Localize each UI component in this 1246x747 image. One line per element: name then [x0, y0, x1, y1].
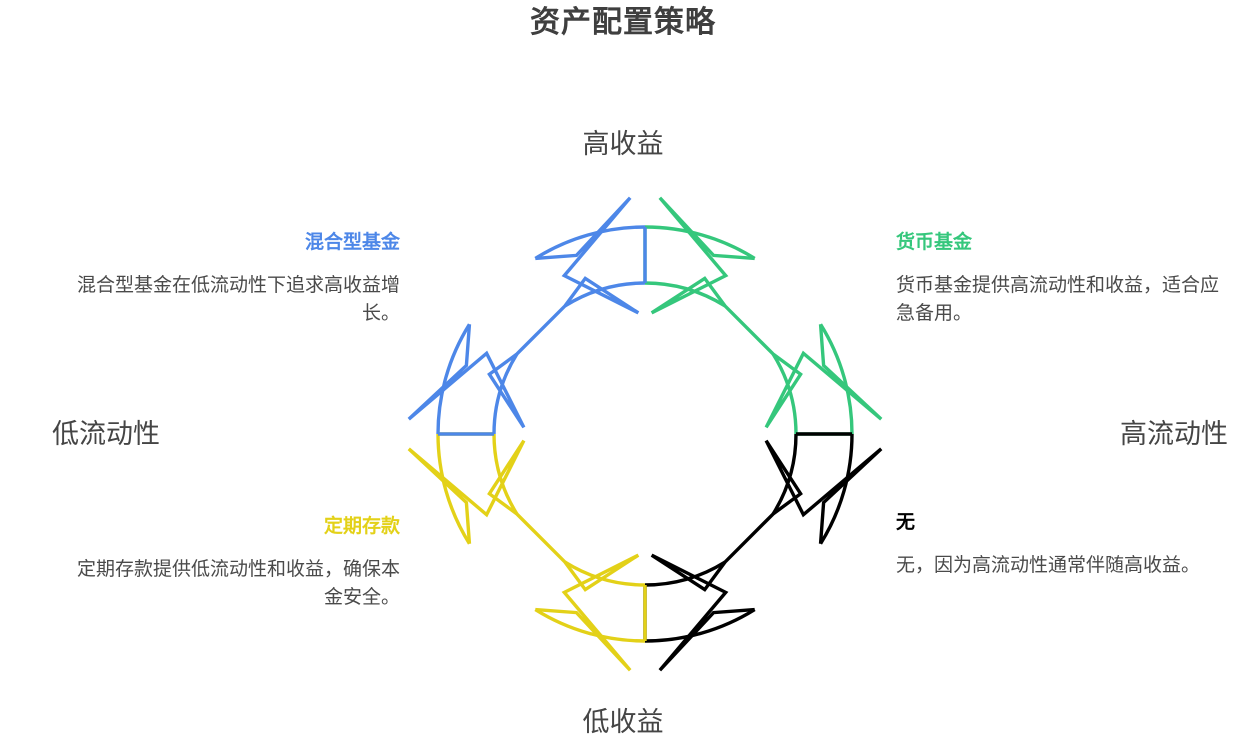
- quadrant-bottom-left-body: 定期存款提供低流动性和收益，确保本金安全。: [60, 556, 400, 612]
- ring-segment: [565, 283, 645, 306]
- quadrant-bottom-right-heading: 无: [896, 512, 1236, 534]
- ring-segment: [409, 441, 639, 671]
- ring-segment: [409, 198, 639, 428]
- ring-segment: [652, 198, 882, 428]
- quadrant-top-right-body: 货币基金提供高流动性和收益，适合应急备用。: [896, 272, 1236, 328]
- quadrant-bottom-right: 无 无，因为高流动性通常伴随高收益。: [896, 512, 1236, 580]
- quadrant-bottom-right-body: 无，因为高流动性通常伴随高收益。: [896, 552, 1236, 580]
- ring-segment: [645, 562, 725, 585]
- quadrant-bottom-left: 定期存款 定期存款提供低流动性和收益，确保本金安全。: [60, 516, 400, 612]
- quadrant-top-left: 混合型基金 混合型基金在低流动性下追求高收益增长。: [60, 232, 400, 328]
- ring-segment: [645, 227, 755, 258]
- ring-segment: [494, 434, 517, 514]
- ring-segment: [438, 324, 469, 434]
- axis-label-top: 高收益: [0, 122, 1246, 161]
- quadrant-top-left-heading: 混合型基金: [60, 232, 400, 254]
- ring-segment: [652, 441, 882, 671]
- ring-segment: [494, 354, 517, 434]
- ring-segment: [535, 227, 645, 258]
- axis-label-right: 高流动性: [1120, 412, 1228, 451]
- ring-segment: [565, 562, 645, 585]
- page-title: 资产配置策略: [0, 0, 1246, 46]
- ring-segment: [773, 354, 796, 434]
- axis-label-left: 低流动性: [52, 412, 160, 451]
- ring-segment: [821, 324, 852, 434]
- ring-segment: [645, 610, 755, 641]
- ring-segment: [773, 434, 796, 514]
- axis-label-bottom: 低收益: [0, 700, 1246, 739]
- ring-segment: [821, 434, 852, 544]
- quadrant-top-left-body: 混合型基金在低流动性下追求高收益增长。: [60, 272, 400, 328]
- ring-segment: [438, 434, 469, 544]
- quadrant-top-right: 货币基金 货币基金提供高流动性和收益，适合应急备用。: [896, 232, 1236, 328]
- quadrant-ring-diagram: [0, 0, 1246, 747]
- quadrant-top-right-heading: 货币基金: [896, 232, 1236, 254]
- ring-segment: [645, 283, 725, 306]
- quadrant-bottom-left-heading: 定期存款: [60, 516, 400, 538]
- ring-segment: [535, 610, 645, 641]
